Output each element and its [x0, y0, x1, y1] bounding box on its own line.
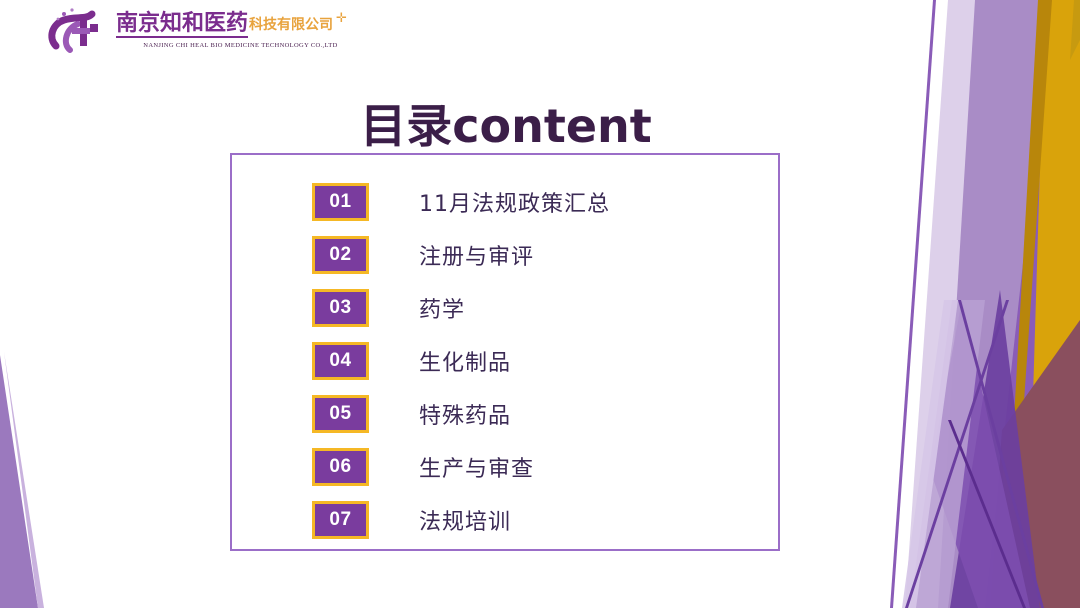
logo-mark-icon [46, 6, 108, 54]
logo-company-name-en: NANJING CHI HEAL BIO MEDICINE TECHNOLOGY… [116, 42, 347, 49]
toc-item-label: 药学 [419, 292, 465, 324]
deco-lower-light-wedge [910, 300, 985, 608]
toc-item-07[interactable]: 07 法规培训 [230, 493, 780, 546]
logo-company-name-main: 南京知和医药 [116, 13, 248, 38]
toc-item-01[interactable]: 01 11月法规政策汇总 [230, 175, 780, 228]
toc-item-04[interactable]: 04 生化制品 [230, 334, 780, 387]
deco-gold-stripe [1032, 0, 1080, 470]
deco-mid-violet-wedge [938, 0, 1052, 608]
logo-company-name-sub: 科技有限公司 [249, 18, 333, 32]
deco-pale-band [905, 0, 1010, 608]
deco-maroon-block [1002, 320, 1080, 608]
toc-item-05[interactable]: 05 特殊药品 [230, 387, 780, 440]
toc-item-label: 生产与审查 [419, 451, 534, 483]
deco-purple-wedge [985, 0, 1074, 608]
toc-item-label: 法规培训 [419, 504, 511, 536]
toc-number-badge: 05 [312, 395, 369, 433]
toc-number-badge: 06 [312, 448, 369, 486]
deco-hairline-upper [890, 0, 936, 608]
toc-item-label: 特殊药品 [419, 398, 511, 430]
toc-item-02[interactable]: 02 注册与审评 [230, 228, 780, 281]
deco-hairline-cross-c [948, 420, 1026, 608]
toc-number-badge: 07 [312, 501, 369, 539]
deco-dark-sliver [1070, 0, 1080, 60]
slide-canvas: 南京知和医药 科技有限公司 ✛ NANJING CHI HEAL BIO MED… [0, 0, 1080, 608]
toc-item-label: 注册与审评 [419, 239, 534, 271]
toc-item-label: 生化制品 [419, 345, 511, 377]
toc-number-badge: 04 [312, 342, 369, 380]
toc-item-03[interactable]: 03 药学 [230, 281, 780, 334]
page-title: 目录content [230, 103, 782, 149]
logo-company-line: 南京知和医药 科技有限公司 ✛ [116, 13, 347, 38]
toc-number-badge: 03 [312, 289, 369, 327]
toc-number-badge: 01 [312, 183, 369, 221]
deco-lower-pale-wedge [902, 300, 958, 608]
toc-number-badge: 02 [312, 236, 369, 274]
deco-left-wedge [0, 355, 38, 608]
deco-gold-stripe-dark [1014, 0, 1052, 430]
toc-item-label: 11月法规政策汇总 [419, 186, 610, 218]
deco-hairline-cross-b [958, 300, 1044, 608]
table-of-contents: 01 11月法规政策汇总 02 注册与审评 03 药学 04 生化制品 05 特… [230, 153, 780, 551]
logo-text: 南京知和医药 科技有限公司 ✛ NANJING CHI HEAL BIO MED… [116, 11, 347, 49]
logo-plus-icon: ✛ [336, 11, 347, 24]
deco-lower-purple-cross [930, 300, 1030, 608]
company-logo: 南京知和医药 科技有限公司 ✛ NANJING CHI HEAL BIO MED… [46, 6, 347, 54]
deco-left-wedge-light [4, 352, 44, 608]
toc-item-06[interactable]: 06 生产与审查 [230, 440, 780, 493]
deco-hairline-cross-a [905, 300, 1009, 608]
deco-lower-dark-violet [950, 290, 1040, 608]
deco-maroon-taper [990, 430, 1008, 608]
